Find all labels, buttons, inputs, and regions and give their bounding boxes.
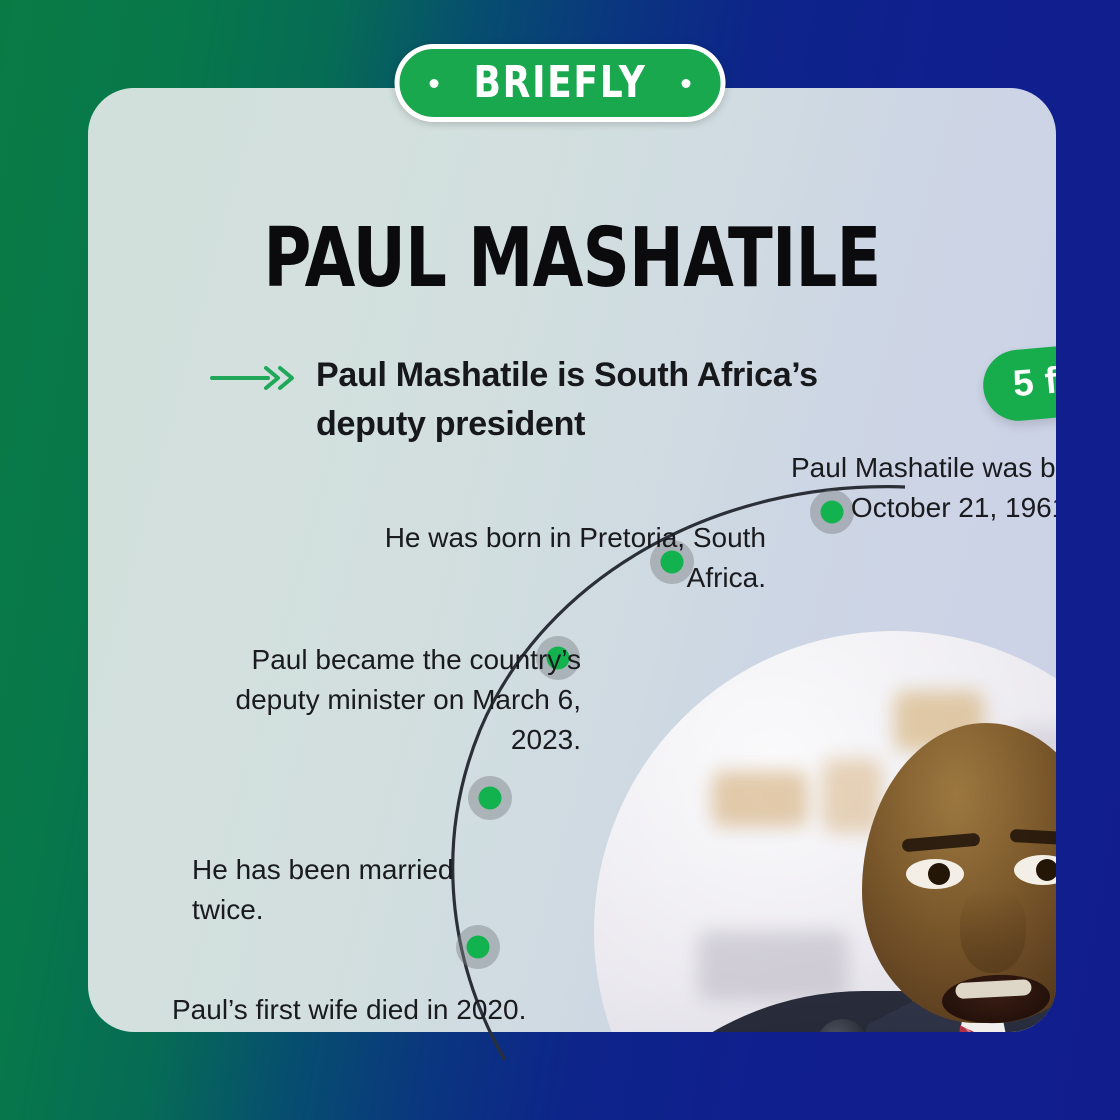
facts-count-badge: 5 facts [980, 337, 1056, 423]
dot-separator-left-icon [430, 79, 439, 88]
briefly-logo-badge[interactable]: BRIEFLY [395, 44, 726, 122]
subject-pupil [1036, 859, 1056, 881]
fact-item-4: He has been married twice. [192, 850, 532, 930]
fact-item-2: He was born in Pretoria, South Africa. [366, 518, 766, 598]
subject-nose [960, 889, 1026, 973]
brand-name: BRIEFLY [474, 61, 647, 105]
arrow-right-icon [210, 365, 302, 396]
page-title: PAUL MASHATILE [185, 218, 959, 300]
content-card: PAUL MASHATILE Paul Mashatile is South A… [88, 88, 1056, 1032]
dot-separator-right-icon [681, 79, 690, 88]
subtitle-text: Paul Mashatile is South Africa’s deputy … [316, 351, 930, 450]
blurred-backdrop-shape [712, 771, 808, 827]
fact-item-5: Paul’s first wife died in 2020. [172, 990, 532, 1030]
blurred-backdrop-shape [698, 931, 848, 1001]
portrait-photo [594, 631, 1056, 1032]
subject-teeth [955, 979, 1032, 999]
fact-item-3: Paul became the country’s deputy ministe… [206, 640, 581, 759]
fact-item-1: Paul Mashatile was born on October 21, 1… [788, 448, 1056, 528]
subject-eye-left [906, 859, 964, 889]
subtitle-row: Paul Mashatile is South Africa’s deputy … [210, 351, 930, 450]
infographic-canvas: PAUL MASHATILE Paul Mashatile is South A… [0, 0, 1120, 1120]
subject-pupil [928, 863, 950, 885]
